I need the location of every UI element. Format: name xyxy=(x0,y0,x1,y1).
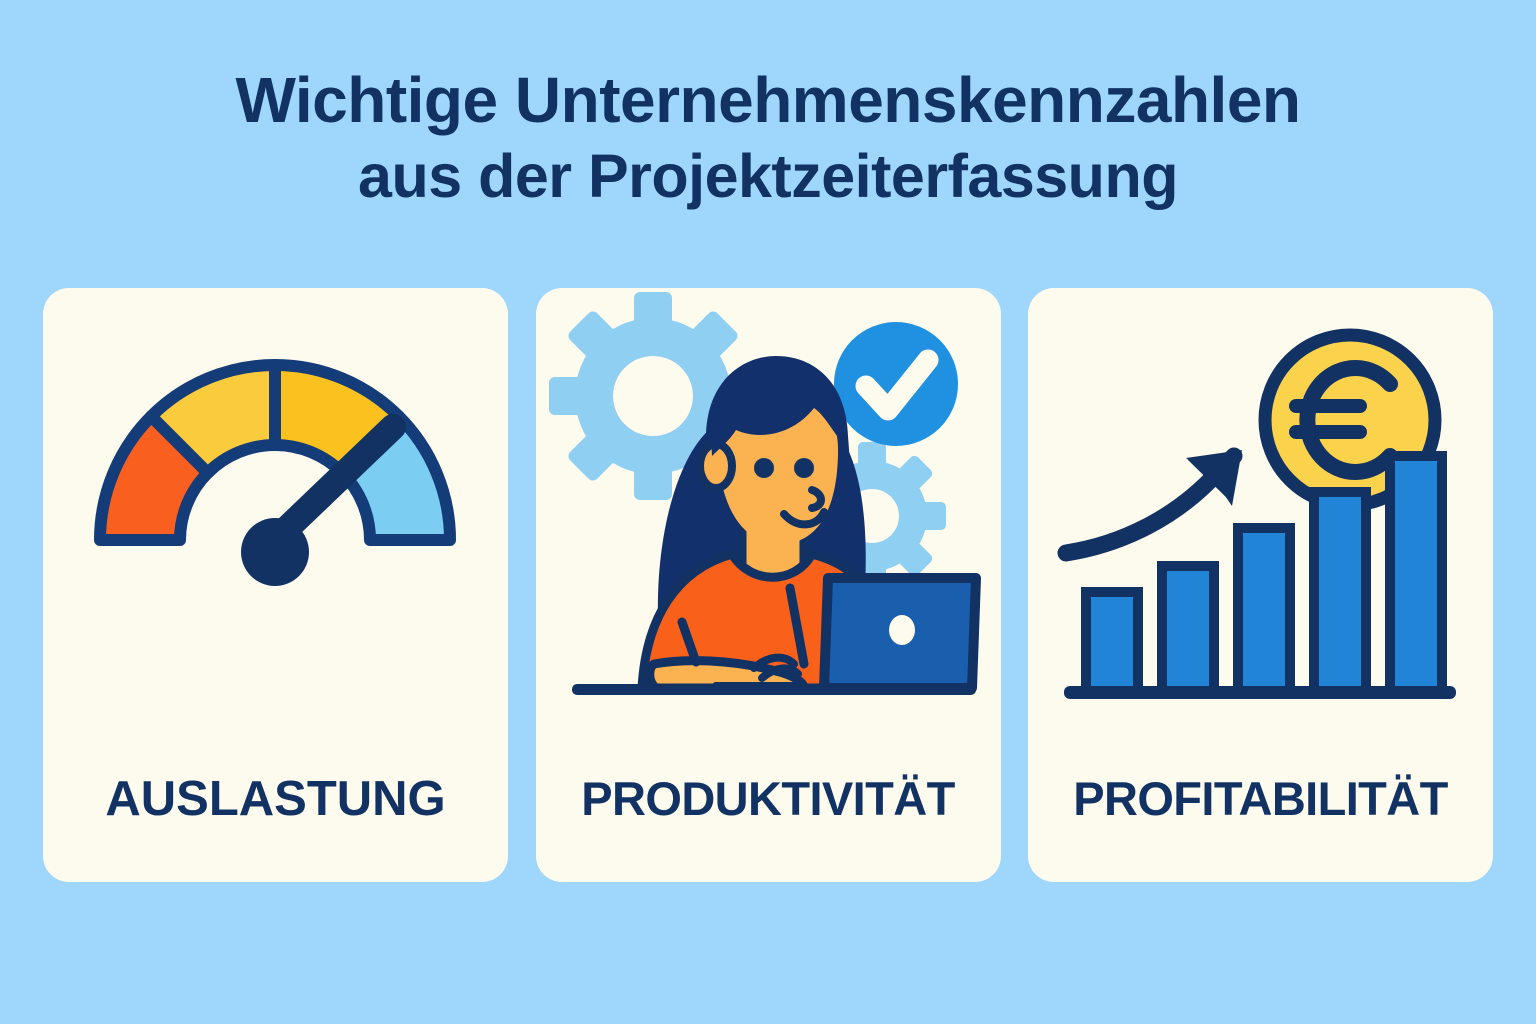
bar-chart-growth-icon xyxy=(1028,288,1493,768)
chart-baseline xyxy=(1064,686,1456,699)
bar-chart-bars xyxy=(1086,456,1442,692)
growth-arrow-icon xyxy=(1066,450,1242,553)
laptop-icon xyxy=(824,578,976,688)
metric-card-row: AUSLASTUNG xyxy=(43,288,1493,882)
page-title: Wichtige Unternehmenskennzahlen aus der … xyxy=(0,62,1536,214)
infographic-canvas: Wichtige Unternehmenskennzahlen aus der … xyxy=(0,0,1536,1024)
bar-4 xyxy=(1314,492,1366,692)
card-label-produktivitaet: PRODUKTIVITÄT xyxy=(536,770,1001,828)
bar-1 xyxy=(1086,592,1138,692)
metric-card-produktivitaet[interactable]: PRODUKTIVITÄT xyxy=(536,288,1001,882)
title-line-2: aus der Projektzeiterfassung xyxy=(0,138,1536,214)
person-eye-left xyxy=(754,458,774,478)
title-line-1: Wichtige Unternehmenskennzahlen xyxy=(0,62,1536,138)
card-label-auslastung: AUSLASTUNG xyxy=(43,770,508,828)
gauge-icon xyxy=(43,288,508,768)
bar-5 xyxy=(1390,456,1442,692)
person-at-laptop-icon xyxy=(536,288,1001,768)
metric-card-profitabilitaet[interactable]: PROFITABILITÄT xyxy=(1028,288,1493,882)
bar-2 xyxy=(1162,566,1214,692)
bar-3 xyxy=(1238,528,1290,692)
metric-card-auslastung[interactable]: AUSLASTUNG xyxy=(43,288,508,882)
card-label-profitabilitaet: PROFITABILITÄT xyxy=(1028,770,1493,828)
person-eye-right xyxy=(794,458,814,478)
check-circle-icon xyxy=(834,322,958,446)
